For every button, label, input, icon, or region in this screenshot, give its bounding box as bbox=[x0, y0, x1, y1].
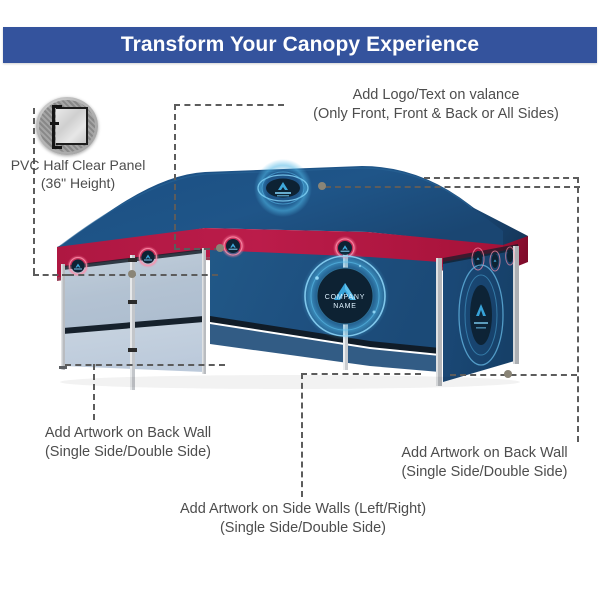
annotation-valance: Add Logo/Text on valance (Only Front, Fr… bbox=[278, 86, 594, 124]
canopy-infographic: Transform Your Canopy Experience bbox=[0, 0, 600, 600]
leader-left-dot bbox=[128, 270, 136, 278]
page-title: Transform Your Canopy Experience bbox=[121, 33, 479, 57]
annotation-pvc-line1: PVC Half Clear Panel bbox=[11, 157, 146, 173]
leader-left-horizontal bbox=[33, 274, 68, 276]
pvc-icon-measure-tick bbox=[50, 122, 59, 125]
side-wall-company-logo bbox=[459, 265, 503, 365]
leader-right-top bbox=[424, 177, 579, 179]
annotation-sidewalls-line2: (Single Side/Double Side) bbox=[143, 519, 463, 538]
annotation-backwall-left-line2: (Single Side/Double Side) bbox=[8, 443, 248, 462]
company-logo-line2: NAME bbox=[333, 303, 356, 310]
annotation-sidewalls: Add Artwork on Side Walls (Left/Right) (… bbox=[143, 500, 463, 538]
pvc-half-clear-panel-icon bbox=[36, 97, 98, 155]
pvc-icon-measure-bracket bbox=[52, 105, 62, 149]
leader-backwall-left-vertical bbox=[93, 364, 95, 420]
leader-roof-logo-dot bbox=[318, 182, 326, 190]
leader-backwall-left-top bbox=[65, 364, 225, 366]
annotation-valance-line2: (Only Front, Front & Back or All Sides) bbox=[278, 105, 594, 124]
annotation-pvc-line2: (36" Height) bbox=[2, 174, 154, 192]
leader-right-dot bbox=[504, 370, 512, 378]
leader-valance-vertical bbox=[174, 104, 176, 250]
leader-right-vertical bbox=[577, 177, 579, 442]
annotation-backwall-right-line2: (Single Side/Double Side) bbox=[372, 463, 597, 482]
leader-sidewalls-top bbox=[301, 373, 421, 375]
leader-valance-bottom bbox=[174, 248, 220, 250]
annotation-backwall-left: Add Artwork on Back Wall (Single Side/Do… bbox=[8, 424, 248, 462]
annotation-backwall-left-line1: Add Artwork on Back Wall bbox=[45, 425, 211, 441]
annotation-backwall-right: Add Artwork on Back Wall (Single Side/Do… bbox=[372, 444, 597, 482]
annotation-backwall-right-line1: Add Artwork on Back Wall bbox=[401, 445, 567, 461]
leader-valance-dot bbox=[216, 244, 224, 252]
annotation-sidewalls-line1: Add Artwork on Side Walls (Left/Right) bbox=[180, 501, 426, 517]
company-logo-line1: COMPANY bbox=[325, 294, 365, 301]
page-header-bar: Transform Your Canopy Experience bbox=[3, 27, 597, 63]
leader-left-upper bbox=[68, 274, 218, 276]
leader-right-bottom bbox=[450, 374, 577, 376]
leader-valance-top bbox=[174, 104, 284, 106]
company-logo-text: COMPANY NAME bbox=[313, 294, 377, 311]
leader-roof-logo-horizontal bbox=[325, 186, 580, 188]
annotation-pvc-panel: PVC Half Clear Panel (36" Height) bbox=[2, 156, 154, 192]
leader-sidewalls-vertical bbox=[301, 373, 303, 497]
roof-logo-badge bbox=[254, 159, 312, 217]
annotation-valance-line1: Add Logo/Text on valance bbox=[353, 87, 520, 103]
